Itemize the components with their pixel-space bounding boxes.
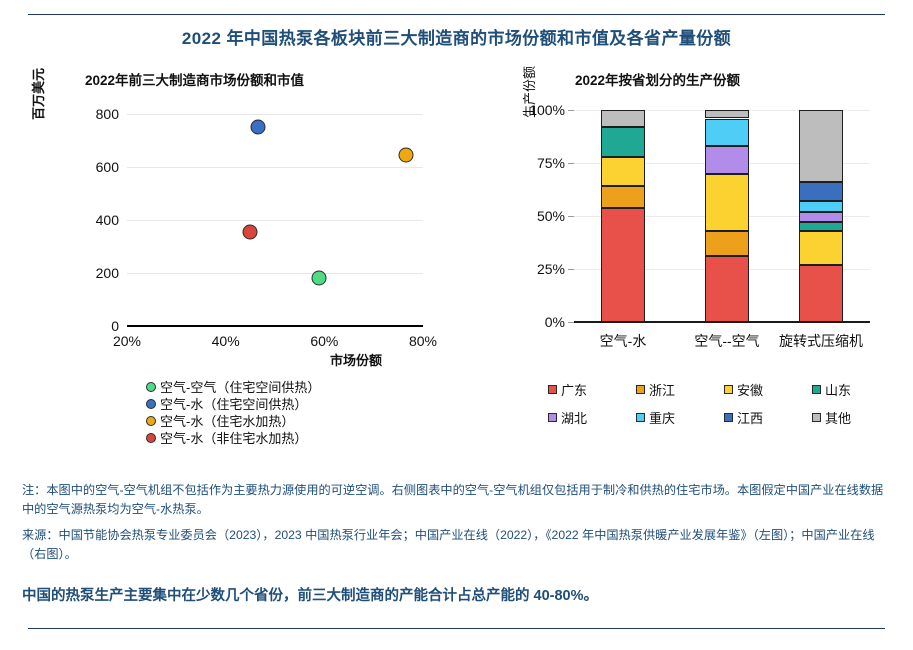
x-axis-tick-label: 40% [212, 333, 240, 349]
bar-category-label: 旋转式压缩机 [779, 331, 863, 351]
legend-item[interactable]: 空气-水（住宅水加热） [146, 412, 320, 429]
stacked-bar[interactable]: 旋转式压缩机 [799, 110, 843, 322]
bar-segment[interactable] [705, 256, 749, 322]
y-axis-tick-label: 75% [537, 155, 565, 171]
y-axis-tick-mark [568, 163, 574, 164]
y-axis-tick-label: 0 [111, 318, 119, 334]
bar-segment[interactable] [601, 186, 645, 207]
bar-segment[interactable] [601, 127, 645, 157]
y-axis-tick-label: 0% [545, 314, 565, 330]
y-axis-tick-mark [568, 216, 574, 217]
x-axis-tick-label: 20% [113, 333, 141, 349]
bar-segment[interactable] [799, 231, 843, 265]
bar-segment[interactable] [705, 110, 749, 118]
bar-category-label: 空气--空气 [694, 331, 759, 351]
source-text: 来源：中国节能协会热泵专业委员会（2023），2023 中国热泵行业年会；中国产… [22, 526, 890, 564]
scatter-point[interactable] [250, 119, 265, 134]
y-axis-tick-label: 25% [537, 261, 565, 277]
bar-segment[interactable] [799, 222, 843, 230]
left-chart-title: 2022年前三大制造商市场份额和市值 [85, 69, 304, 89]
legend-swatch-circle-icon [146, 382, 156, 392]
left-chart-y-axis-label: 百万美元 [28, 68, 47, 120]
y-axis-tick-label: 50% [537, 208, 565, 224]
key-takeaway: 中国的热泵生产主要集中在少数几个省份，前三大制造商的产能合计占总产能的 40-8… [22, 586, 890, 606]
legend-item-label: 其他 [825, 408, 851, 427]
gridline [127, 273, 423, 274]
scatter-point[interactable] [398, 148, 413, 163]
legend-item[interactable]: 空气-空气（住宅空间供热） [146, 378, 320, 395]
left-chart-x-axis-label: 市场份额 [330, 350, 382, 369]
bar-segment[interactable] [601, 110, 645, 127]
right-chart-title: 2022年按省划分的生产份额 [575, 69, 740, 89]
bar-segment[interactable] [799, 182, 843, 201]
gridline [127, 114, 423, 115]
scatter-point[interactable] [312, 271, 327, 286]
legend-swatch-square-icon [724, 385, 733, 394]
legend-swatch-square-icon [812, 413, 821, 422]
footnotes: 注：本图中的空气-空气机组不包括作为主要热力源使用的可逆空调。右侧图表中的空气-… [22, 481, 890, 571]
y-axis-tick-mark [568, 110, 574, 111]
legend-item-label: 重庆 [649, 408, 675, 427]
y-axis-tick-mark [568, 322, 574, 323]
legend-item-label: 湖北 [561, 408, 587, 427]
stacked-bar-plot-area: 0%25%50%75%100%空气-水空气--空气旋转式压缩机 [574, 110, 870, 322]
legend-item[interactable]: 浙江 [636, 380, 724, 399]
bar-segment[interactable] [799, 110, 843, 182]
legend-item[interactable]: 重庆 [636, 408, 724, 427]
bar-segment[interactable] [705, 174, 749, 231]
bar-segment[interactable] [601, 208, 645, 322]
page-title: 2022 年中国热泵各板块前三大制造商的市场份额和市值及各省产量份额 [0, 24, 913, 49]
legend-item-label: 江西 [737, 408, 763, 427]
legend-swatch-square-icon [636, 385, 645, 394]
y-axis-tick-mark [568, 269, 574, 270]
slide-page: 2022 年中国热泵各板块前三大制造商的市场份额和市值及各省产量份额 2022年… [0, 0, 913, 650]
legend-swatch-square-icon [548, 413, 557, 422]
stacked-bar[interactable]: 空气-水 [601, 110, 645, 322]
x-axis-tick-label: 60% [310, 333, 338, 349]
legend-item[interactable]: 广东 [548, 380, 636, 399]
note-text: 注：本图中的空气-空气机组不包括作为主要热力源使用的可逆空调。右侧图表中的空气-… [22, 481, 890, 519]
bottom-divider-rule [28, 628, 885, 629]
legend-swatch-square-icon [812, 385, 821, 394]
bar-category-label: 空气-水 [600, 331, 647, 351]
top-divider-rule [28, 14, 885, 15]
bar-segment[interactable] [601, 157, 645, 187]
scatter-point[interactable] [243, 224, 258, 239]
scatter-legend: 空气-空气（住宅空间供热）空气-水（住宅空间供热）空气-水（住宅水加热）空气-水… [146, 378, 320, 446]
scatter-x-axis-line [127, 325, 423, 327]
legend-item-label: 空气-水（非住宅水加热） [160, 428, 307, 447]
y-axis-tick-label: 100% [529, 102, 565, 118]
legend-item-label: 广东 [561, 380, 587, 399]
legend-swatch-square-icon [636, 413, 645, 422]
y-axis-tick-label: 200 [96, 265, 119, 281]
y-axis-tick-label: 600 [96, 159, 119, 175]
gridline [127, 220, 423, 221]
legend-swatch-circle-icon [146, 433, 156, 443]
legend-item-label: 浙江 [649, 380, 675, 399]
legend-item[interactable]: 空气-水（住宅空间供热） [146, 395, 320, 412]
legend-item[interactable]: 江西 [724, 408, 812, 427]
stacked-bar[interactable]: 空气--空气 [705, 110, 749, 322]
legend-swatch-circle-icon [146, 416, 156, 426]
x-axis-tick-label: 80% [409, 333, 437, 349]
legend-item[interactable]: 其他 [812, 408, 900, 427]
legend-swatch-circle-icon [146, 399, 156, 409]
bar-segment[interactable] [705, 119, 749, 147]
bar-legend: 广东浙江安徽山东湖北重庆江西其他 [548, 380, 898, 427]
y-axis-tick-label: 400 [96, 212, 119, 228]
legend-swatch-square-icon [548, 385, 557, 394]
legend-item[interactable]: 湖北 [548, 408, 636, 427]
legend-item[interactable]: 安徽 [724, 380, 812, 399]
y-axis-tick-label: 800 [96, 106, 119, 122]
bar-segment[interactable] [799, 212, 843, 223]
bar-segment[interactable] [705, 231, 749, 256]
scatter-plot-area: 020040060080020%40%60%80% [127, 114, 423, 326]
gridline [127, 167, 423, 168]
legend-swatch-square-icon [724, 413, 733, 422]
legend-item-label: 安徽 [737, 380, 763, 399]
bar-segment[interactable] [799, 201, 843, 212]
legend-item[interactable]: 空气-水（非住宅水加热） [146, 429, 320, 446]
legend-item[interactable]: 山东 [812, 380, 900, 399]
bar-segment[interactable] [705, 146, 749, 174]
bar-segment[interactable] [799, 265, 843, 322]
legend-item-label: 山东 [825, 380, 851, 399]
